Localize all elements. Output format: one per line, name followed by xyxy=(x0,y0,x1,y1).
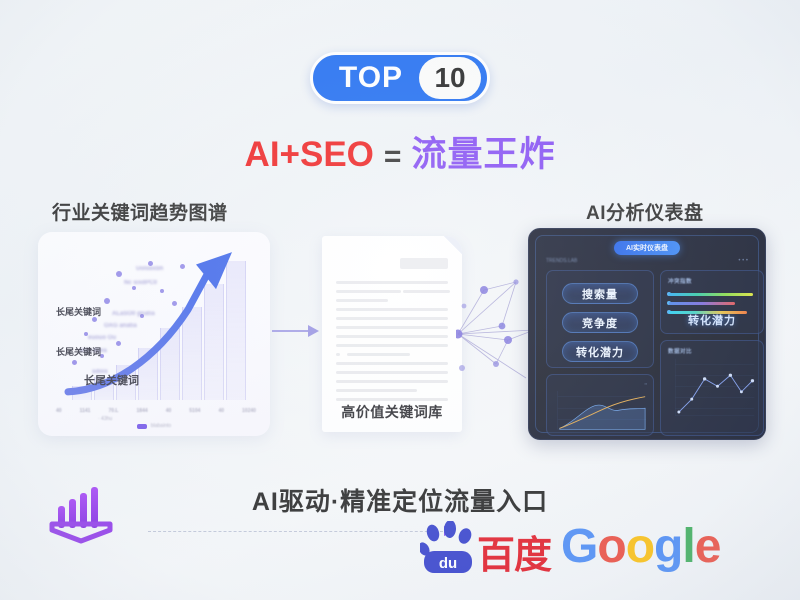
keyword-label: 长尾关键词 xyxy=(84,372,139,388)
document-line xyxy=(336,308,448,311)
chart-inner: Uolsbxbh Nc sixdPC0 ALaSO0 gnatia OAG an… xyxy=(38,232,270,436)
document-line xyxy=(336,281,448,284)
document-header-chip xyxy=(400,258,448,269)
scatter-dot xyxy=(92,317,97,322)
google-letter-l: l xyxy=(682,523,694,571)
top-badge[interactable]: TOP 10 xyxy=(310,52,490,104)
blur-term: OAG anatia xyxy=(104,323,137,329)
chart-x-axis-title: · 43hu xyxy=(98,416,112,422)
ai-dashboard-panel[interactable]: AI实时仪表盘 TRENDS.LAB • • • 搜索量 竞争度 转化潜力 xyxy=(528,228,766,440)
document-line xyxy=(336,290,401,293)
trend-chart-panel: 数据对比 xyxy=(660,340,764,436)
google-letter-o1: o xyxy=(597,523,625,571)
chart-x-axis: 40 1141 70.L 1844 40 5104 40 10240 xyxy=(56,408,256,414)
document-line xyxy=(336,380,448,383)
section-heading-left: 行业关键词趋势图谱 xyxy=(52,198,228,225)
google-letter-o2: o xyxy=(626,523,654,571)
flow-arrow-icon xyxy=(272,323,320,339)
document-line xyxy=(336,398,448,401)
metric-pill-conversion[interactable]: 转化潜力 xyxy=(562,341,638,362)
scatter-dot xyxy=(72,360,77,365)
google-letter-e: e xyxy=(695,523,721,571)
document-line xyxy=(336,371,448,374)
legend-label: blabainto xyxy=(151,423,171,429)
footer-tagline: AI驱动·精准定位流量入口 xyxy=(0,482,800,518)
gauge-bar xyxy=(669,302,735,305)
document-text-lines xyxy=(336,281,448,407)
top-badge-container: TOP 10 xyxy=(0,52,800,104)
trend-chart-graphic xyxy=(666,355,758,425)
x-tick: 1844 xyxy=(137,408,148,414)
blur-term: Nc sixdPC0 xyxy=(124,280,157,286)
dashboard-menu-icon[interactable]: • • • xyxy=(738,258,748,264)
metric-pill-search-volume[interactable]: 搜索量 xyxy=(562,283,638,304)
content-stage: Uolsbxbh Nc sixdPC0 ALaSO0 gnatia OAG an… xyxy=(0,228,800,448)
blur-term: ALaSO0 gnatia xyxy=(112,311,155,317)
baidu-du-text: du xyxy=(439,555,457,572)
dashboard-title-badge: AI实时仪表盘 xyxy=(614,241,680,255)
network-node xyxy=(499,323,506,330)
top-badge-number: 10 xyxy=(419,57,481,99)
document-line xyxy=(336,389,417,392)
title-part-aiseo: AI+SEO xyxy=(245,135,374,174)
title-part-traffic: 流量王炸 xyxy=(411,135,555,174)
keyword-label: 长尾关键词 xyxy=(56,305,101,318)
gauge-overlay-label: 转化潜力 xyxy=(661,312,763,328)
blur-term: euouo Ou xyxy=(88,335,116,341)
gauge-panel-title: 冲突指数 xyxy=(668,277,692,285)
document-line xyxy=(336,326,448,329)
keyword-trend-chart-card[interactable]: Uolsbxbh Nc sixdPC0 ALaSO0 gnatia OAG an… xyxy=(38,232,270,436)
search-engine-logos: du 百度 Google xyxy=(420,521,720,573)
dashboard-brand-label: TRENDS.LAB xyxy=(546,258,577,264)
document-line xyxy=(336,362,448,365)
google-logo[interactable]: Google xyxy=(561,523,720,571)
baidu-logo[interactable]: du 百度 xyxy=(420,521,551,573)
area-chart-panel: ▪▪ xyxy=(546,374,654,436)
top-badge-label: TOP xyxy=(339,63,419,93)
chart-plot-area: Uolsbxbh Nc sixdPC0 ALaSO0 gnatia OAG an… xyxy=(56,246,256,400)
document-line xyxy=(403,290,450,293)
area-chart-legend: ▪▪ xyxy=(644,382,647,386)
x-tick: 5104 xyxy=(189,408,200,414)
page-title: AI+SEO=流量王炸 xyxy=(0,126,800,177)
network-node xyxy=(513,279,518,284)
network-node xyxy=(493,361,499,367)
document-caption: 高价值关键词库 xyxy=(322,402,462,422)
section-heading-right: AI分析仪表盘 xyxy=(586,198,704,225)
x-tick: 40 xyxy=(166,408,172,414)
network-node xyxy=(504,336,512,344)
document-bullet xyxy=(336,353,340,356)
document-line xyxy=(336,335,448,338)
footer-dashed-connector xyxy=(148,531,448,532)
bar-chart-icon xyxy=(48,484,118,546)
area-chart-graphic xyxy=(552,389,648,435)
dashboard-frame: AI实时仪表盘 TRENDS.LAB • • • 搜索量 竞争度 转化潜力 xyxy=(535,235,759,433)
node-network-graphic xyxy=(456,268,536,398)
network-node xyxy=(480,286,488,294)
x-tick: 1141 xyxy=(80,408,91,414)
google-letter-G: G xyxy=(561,523,597,571)
document-line xyxy=(347,353,410,356)
x-tick: 40 xyxy=(218,408,224,414)
document-line xyxy=(336,299,388,302)
keyword-library-document-card[interactable]: 高价值关键词库 xyxy=(322,236,462,432)
network-node xyxy=(462,304,467,309)
scatter-dot xyxy=(116,271,122,277)
gauge-panel: 冲突指数 转化潜力 xyxy=(660,270,764,334)
blur-term: Uolsbxbh xyxy=(136,266,163,272)
keyword-label: 长尾关键词 xyxy=(56,345,101,358)
gauge-bar xyxy=(669,293,753,296)
document-line xyxy=(336,344,448,347)
baidu-paw-icon: du xyxy=(420,521,476,573)
x-tick: 10240 xyxy=(242,408,256,414)
google-letter-g: g xyxy=(654,523,682,571)
chart-legend: blabainto xyxy=(38,423,270,429)
trend-chart-title: 数据对比 xyxy=(668,347,692,355)
document-fold-corner-icon xyxy=(444,236,462,254)
legend-swatch-icon xyxy=(137,424,147,429)
document-line xyxy=(336,317,448,320)
x-tick: 70.L xyxy=(108,408,118,414)
metric-pill-competition[interactable]: 竞争度 xyxy=(562,312,638,333)
network-node xyxy=(459,365,465,371)
x-tick: 40 xyxy=(56,408,62,414)
baidu-logo-text: 百度 xyxy=(477,537,551,575)
title-equals-sign: = xyxy=(384,140,402,173)
metrics-panel: 搜索量 竞争度 转化潜力 xyxy=(546,270,654,368)
scatter-dot xyxy=(132,286,136,290)
